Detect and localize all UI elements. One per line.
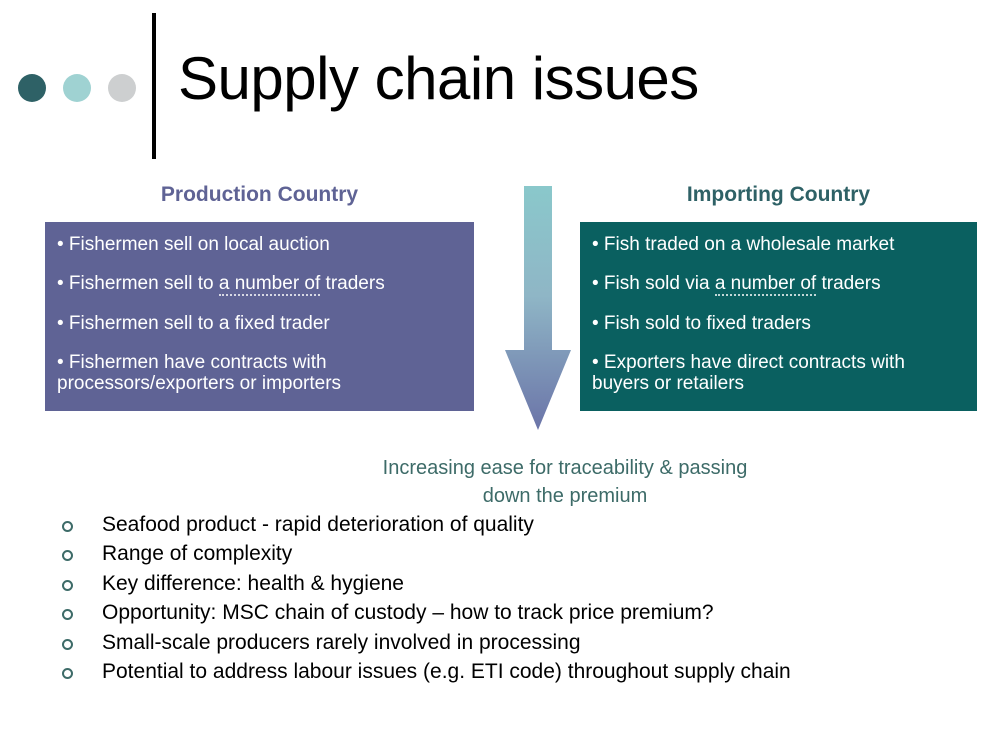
ring-bullet-icon (62, 550, 73, 561)
importing-item-3: • Fish sold to fixed traders (592, 313, 965, 334)
production-country-heading: Production Country (45, 183, 474, 207)
production-item-4: • Fishermen have contracts with processo… (57, 352, 462, 395)
title-vertical-rule (152, 13, 156, 159)
list-item-label: Opportunity: MSC chain of custody – how … (102, 600, 714, 626)
ring-bullet-icon (62, 639, 73, 650)
production-item-2: • Fishermen sell to a number of traders (57, 273, 462, 294)
ring-bullet-icon (62, 668, 73, 679)
slide-canvas: Supply chain issues Production Country I… (0, 0, 992, 732)
down-arrow-icon (503, 186, 573, 430)
importing-country-heading: Importing Country (580, 183, 977, 207)
list-item-label: Seafood product - rapid deterioration of… (102, 512, 534, 538)
list-item-label: Range of complexity (102, 541, 292, 567)
list-item: Range of complexity (62, 541, 962, 567)
list-item: Potential to address labour issues (e.g.… (62, 659, 962, 685)
production-item-4-text: • Fishermen have contracts with processo… (57, 352, 341, 394)
list-item: Opportunity: MSC chain of custody – how … (62, 600, 962, 626)
production-item-1: • Fishermen sell on local auction (57, 234, 462, 255)
ring-bullet-icon (62, 580, 73, 591)
decor-dot-light-teal-icon (63, 74, 91, 102)
ring-bullet-icon (62, 609, 73, 620)
production-item-3-text: • Fishermen sell to a fixed trader (57, 313, 330, 334)
list-item-label: Potential to address labour issues (e.g.… (102, 659, 791, 685)
title-decor-dots (18, 74, 136, 102)
importing-item-1: • Fish traded on a wholesale market (592, 234, 965, 255)
production-item-3: • Fishermen sell to a fixed trader (57, 313, 462, 334)
arrow-caption-line-1: Increasing ease for traceability & passi… (330, 454, 800, 482)
importing-item-2: • Fish sold via a number of traders (592, 273, 965, 294)
production-item-1-text: • Fishermen sell on local auction (57, 234, 330, 255)
arrow-caption: Increasing ease for traceability & passi… (330, 454, 800, 510)
importing-item-1-text: • Fish traded on a wholesale market (592, 234, 894, 255)
list-item: Seafood product - rapid deterioration of… (62, 512, 962, 538)
importing-item-2-flagged-phrase: a number of (715, 273, 816, 296)
decor-dot-gray-icon (108, 74, 136, 102)
importing-country-panel: • Fish traded on a wholesale market • Fi… (580, 222, 977, 411)
decor-dot-dark-teal-icon (18, 74, 46, 102)
importing-item-3-text: • Fish sold to fixed traders (592, 313, 811, 334)
list-item-label: Key difference: health & hygiene (102, 571, 404, 597)
production-item-2-suffix: traders (320, 273, 384, 294)
ring-bullet-icon (62, 521, 73, 532)
production-item-2-flagged-phrase: a number of (219, 273, 320, 296)
importing-item-2-suffix: traders (816, 273, 880, 294)
key-points-list: Seafood product - rapid deterioration of… (62, 512, 962, 689)
arrow-caption-line-2: down the premium (330, 482, 800, 510)
page-title: Supply chain issues (178, 49, 699, 109)
importing-item-2-prefix: • Fish sold via (592, 273, 715, 294)
list-item: Small-scale producers rarely involved in… (62, 630, 962, 656)
list-item: Key difference: health & hygiene (62, 571, 962, 597)
list-item-label: Small-scale producers rarely involved in… (102, 630, 581, 656)
importing-item-4: • Exporters have direct contracts with b… (592, 352, 965, 395)
production-country-panel: • Fishermen sell on local auction • Fish… (45, 222, 474, 411)
production-item-2-prefix: • Fishermen sell to (57, 273, 219, 294)
importing-item-4-text: • Exporters have direct contracts with b… (592, 352, 905, 394)
